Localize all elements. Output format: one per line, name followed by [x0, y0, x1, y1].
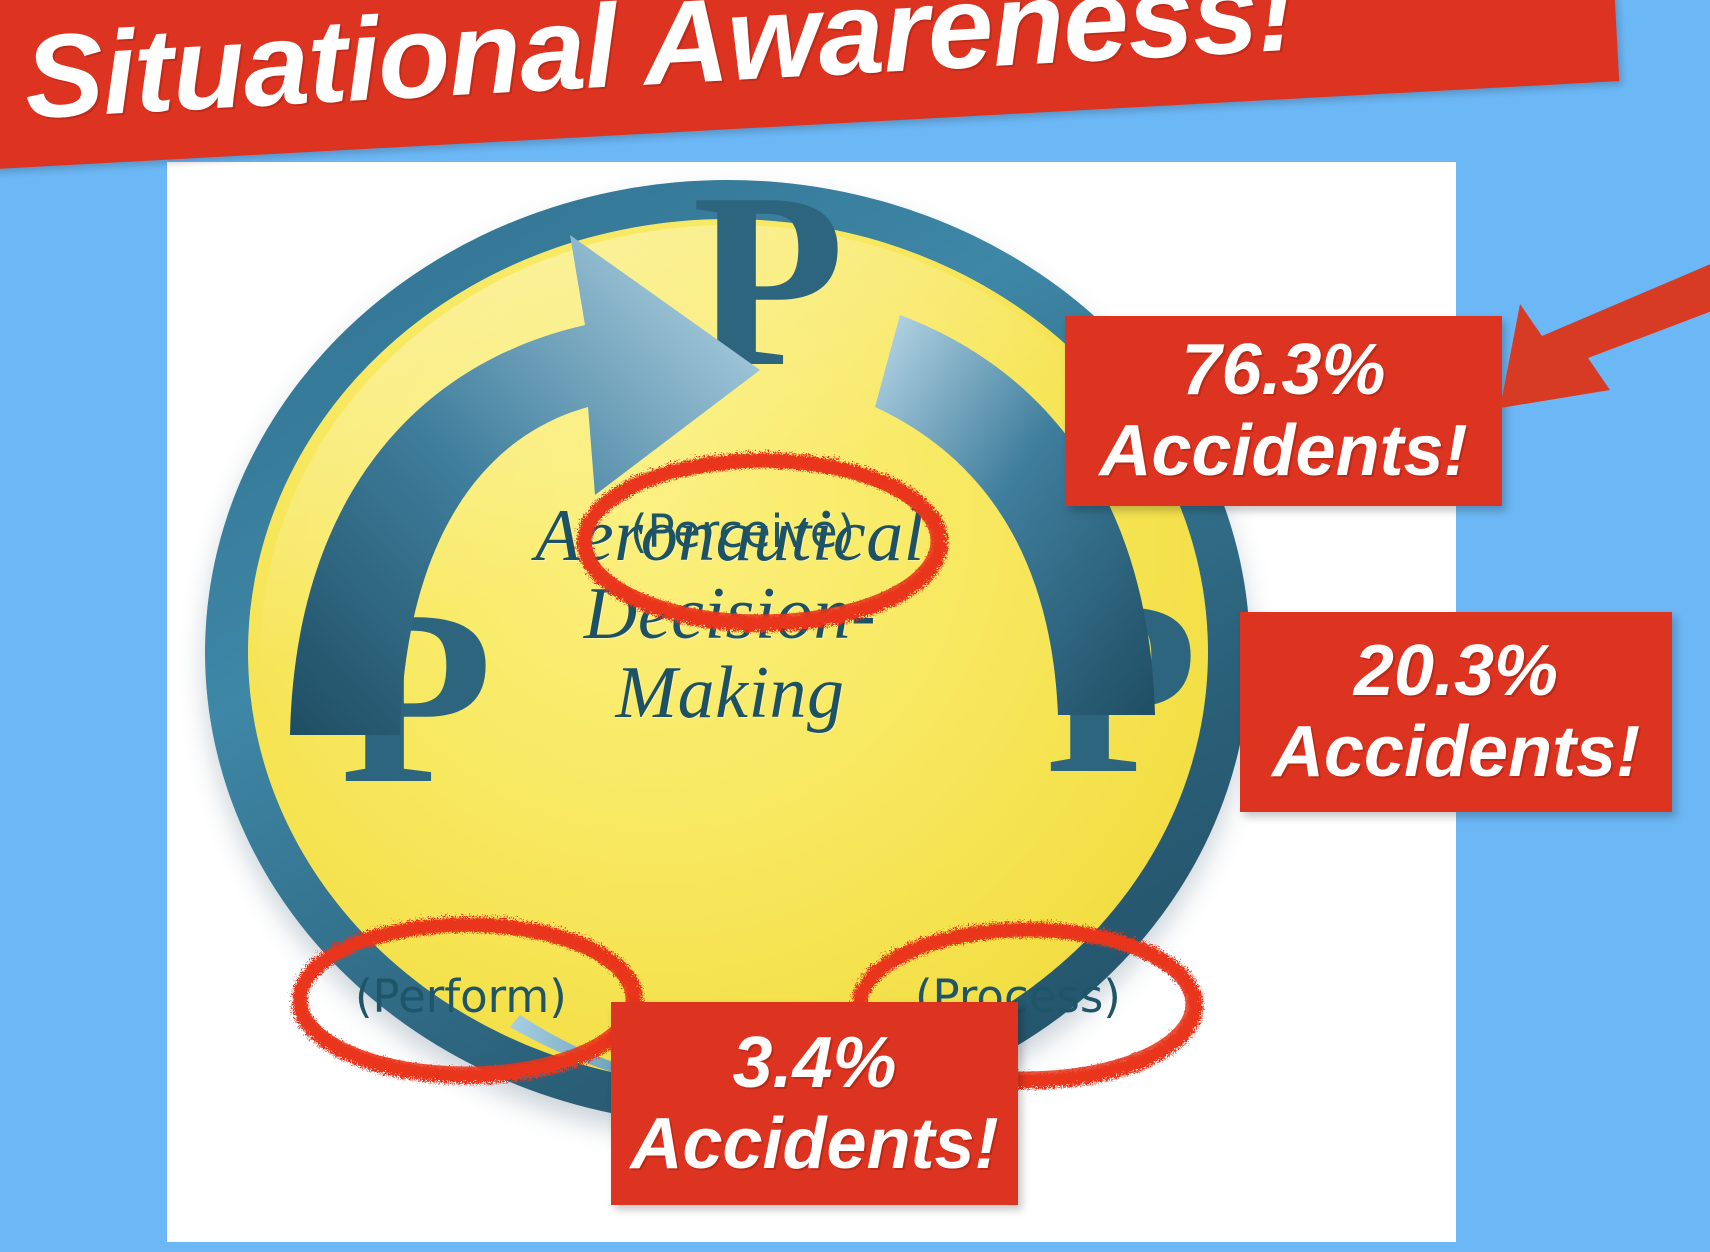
adm-center-line-3: Making — [420, 654, 1040, 732]
callout-perform-percent: 3.4% — [732, 1023, 896, 1104]
callout-perceive-percent: 76.3% — [1181, 330, 1385, 411]
stage-label-perceive: (Perceive) — [630, 505, 855, 558]
callout-perform-label: Accidents! — [630, 1104, 998, 1185]
callout-process-accidents: 20.3% Accidents! — [1240, 612, 1672, 812]
callout-process-percent: 20.3% — [1354, 631, 1558, 712]
slide-canvas: P P P — [0, 0, 1710, 1252]
callout-process-label: Accidents! — [1272, 712, 1640, 793]
callout-perceive-label: Accidents! — [1099, 411, 1467, 492]
page-title: Situational Awareness! — [21, 0, 1298, 146]
red-pointer-arrow-icon — [1480, 230, 1710, 430]
adm-center-line-2: Decision- — [420, 575, 1040, 653]
stage-label-perform: (Perform) — [355, 970, 567, 1023]
callout-perceive-accidents: 76.3% Accidents! — [1065, 316, 1502, 506]
callout-perform-accidents: 3.4% Accidents! — [611, 1002, 1018, 1205]
